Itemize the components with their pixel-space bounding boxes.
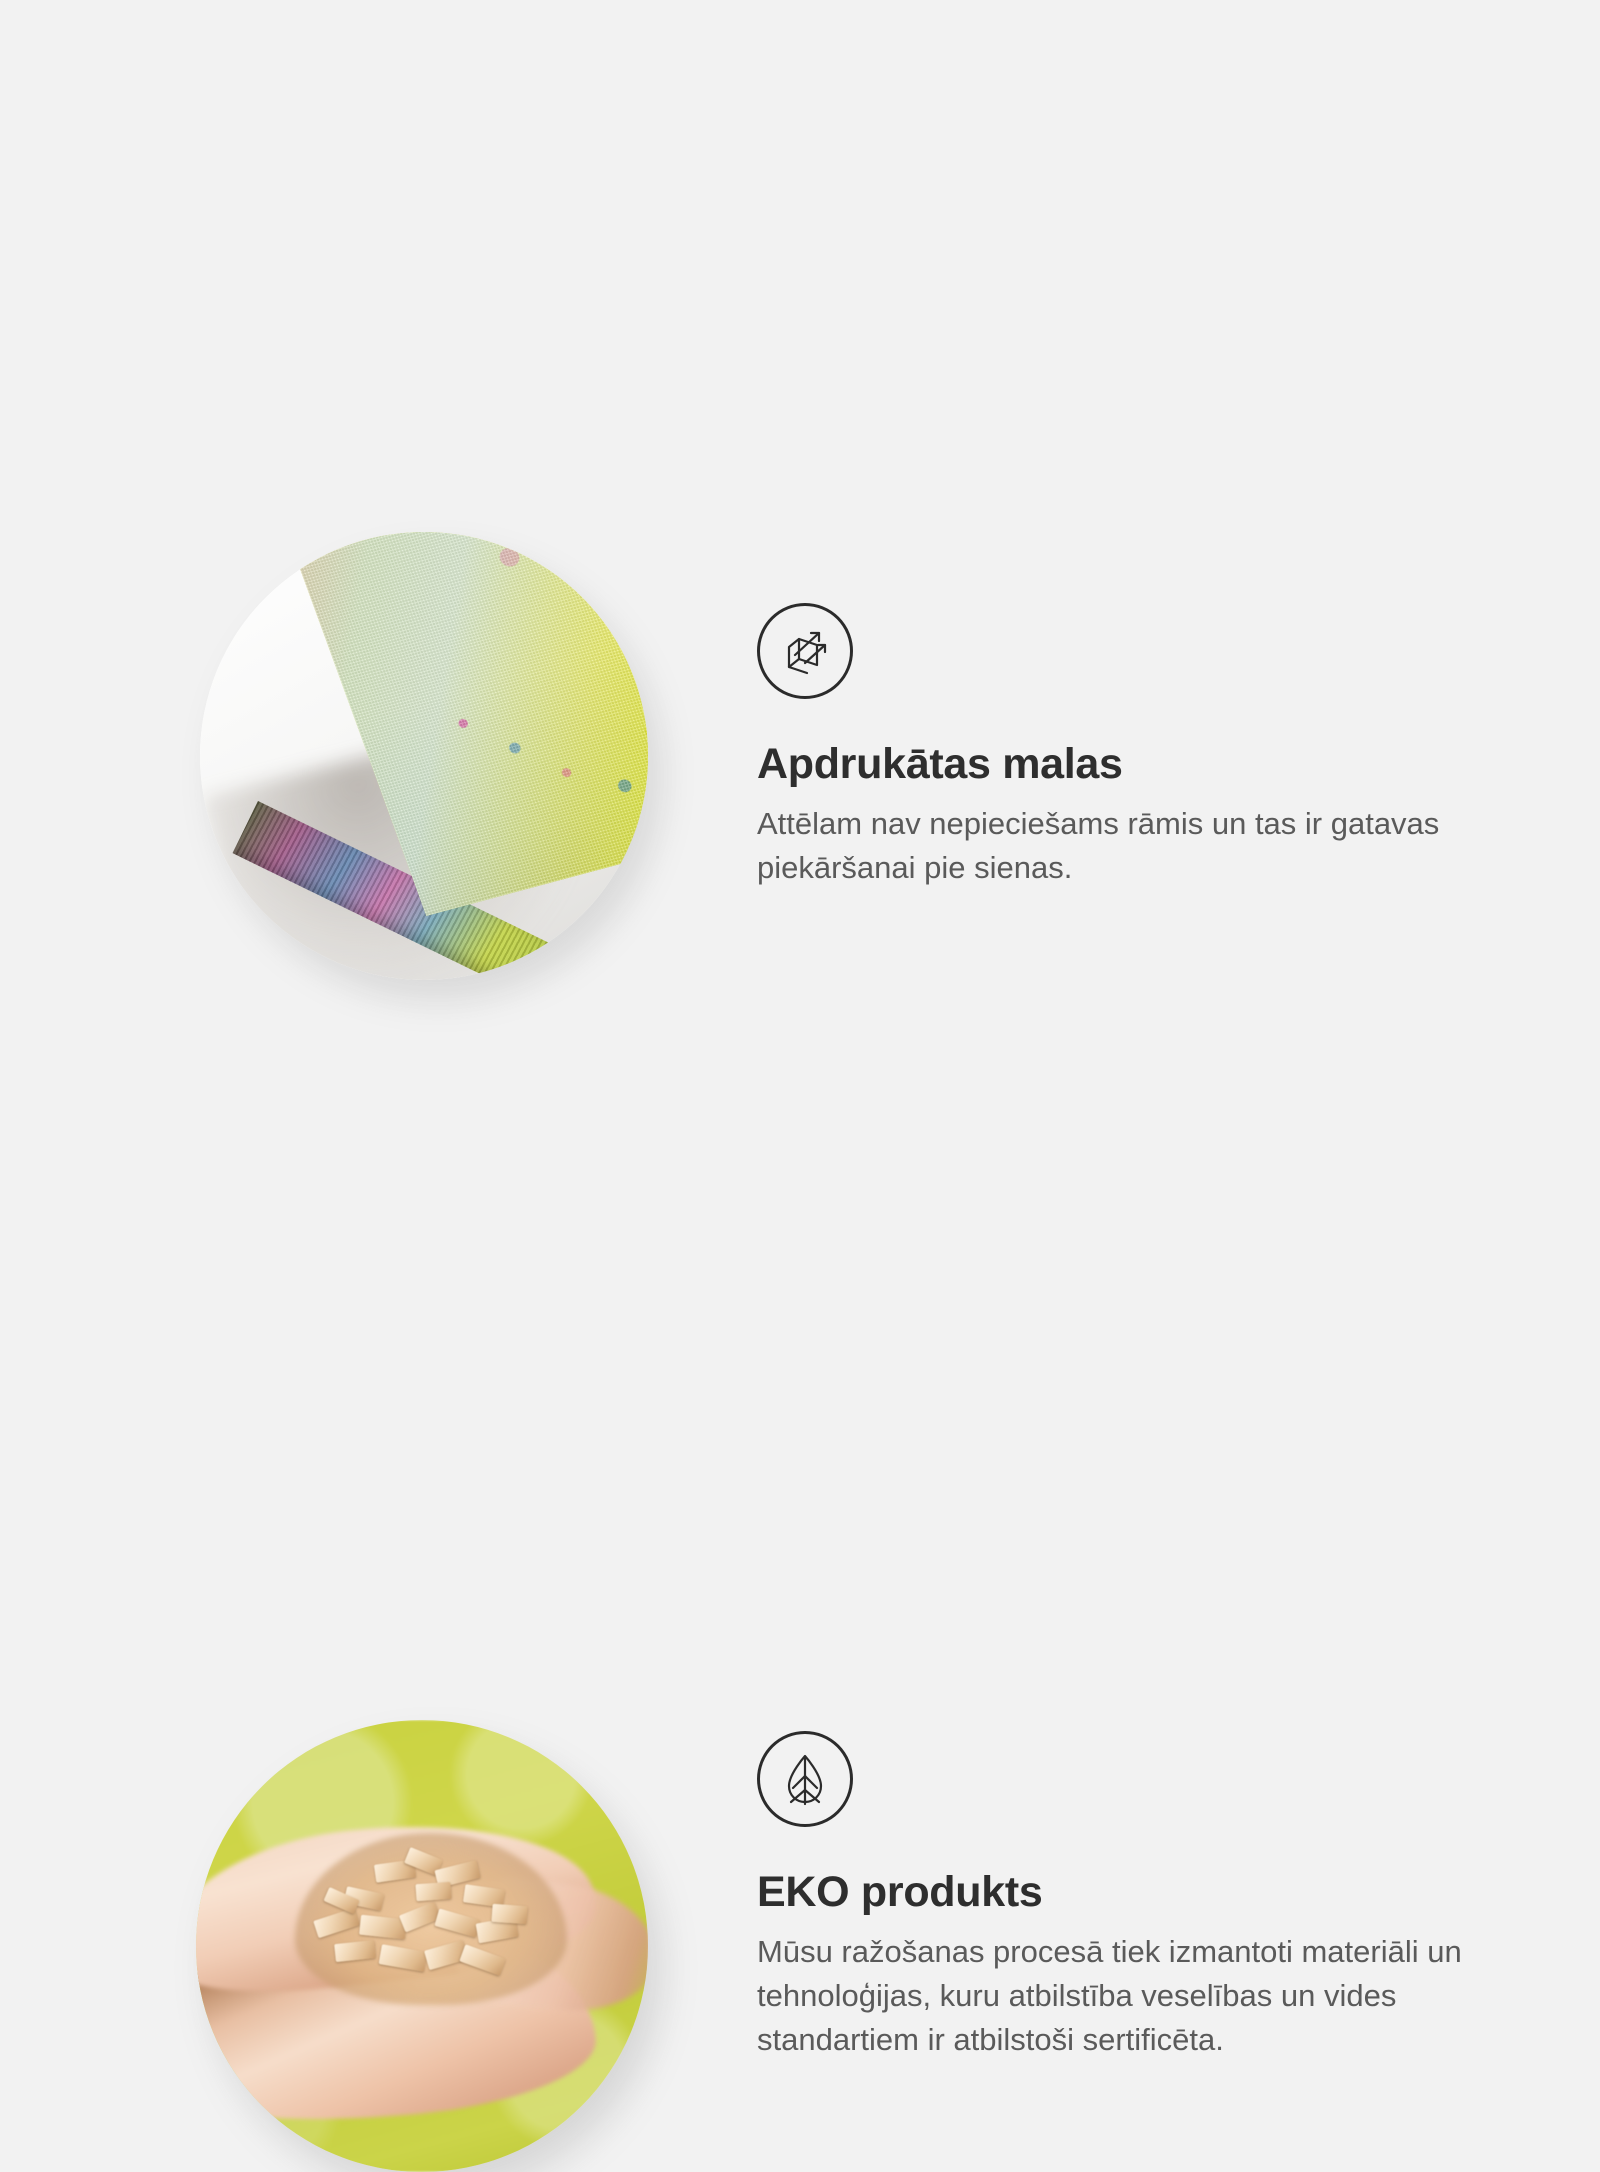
feature-title-printed-edges: Apdrukātas malas	[757, 741, 1497, 788]
feature-text-printed-edges: Apdrukātas malas Attēlam nav nepieciešam…	[757, 603, 1497, 890]
feature-block-printed-edges: Apdrukātas malas Attēlam nav nepieciešam…	[0, 260, 1600, 740]
leaf-icon	[757, 1731, 853, 1827]
feature-list-page: Apdrukātas malas Attēlam nav nepieciešam…	[0, 0, 1600, 1600]
feature-block-eko: EKO produkts Mūsu ražošanas procesā tiek…	[0, 855, 1600, 1325]
wood-chip-cluster	[304, 1847, 557, 2001]
wood-chips-photo	[196, 1720, 648, 2172]
printed-edges-icon	[757, 603, 853, 699]
feature-description-eko: Mūsu ražošanas procesā tiek izmantoti ma…	[757, 1930, 1472, 2062]
feature-title-eko: EKO produkts	[757, 1869, 1497, 1916]
feature-text-eko: EKO produkts Mūsu ražošanas procesā tiek…	[757, 1731, 1497, 2062]
